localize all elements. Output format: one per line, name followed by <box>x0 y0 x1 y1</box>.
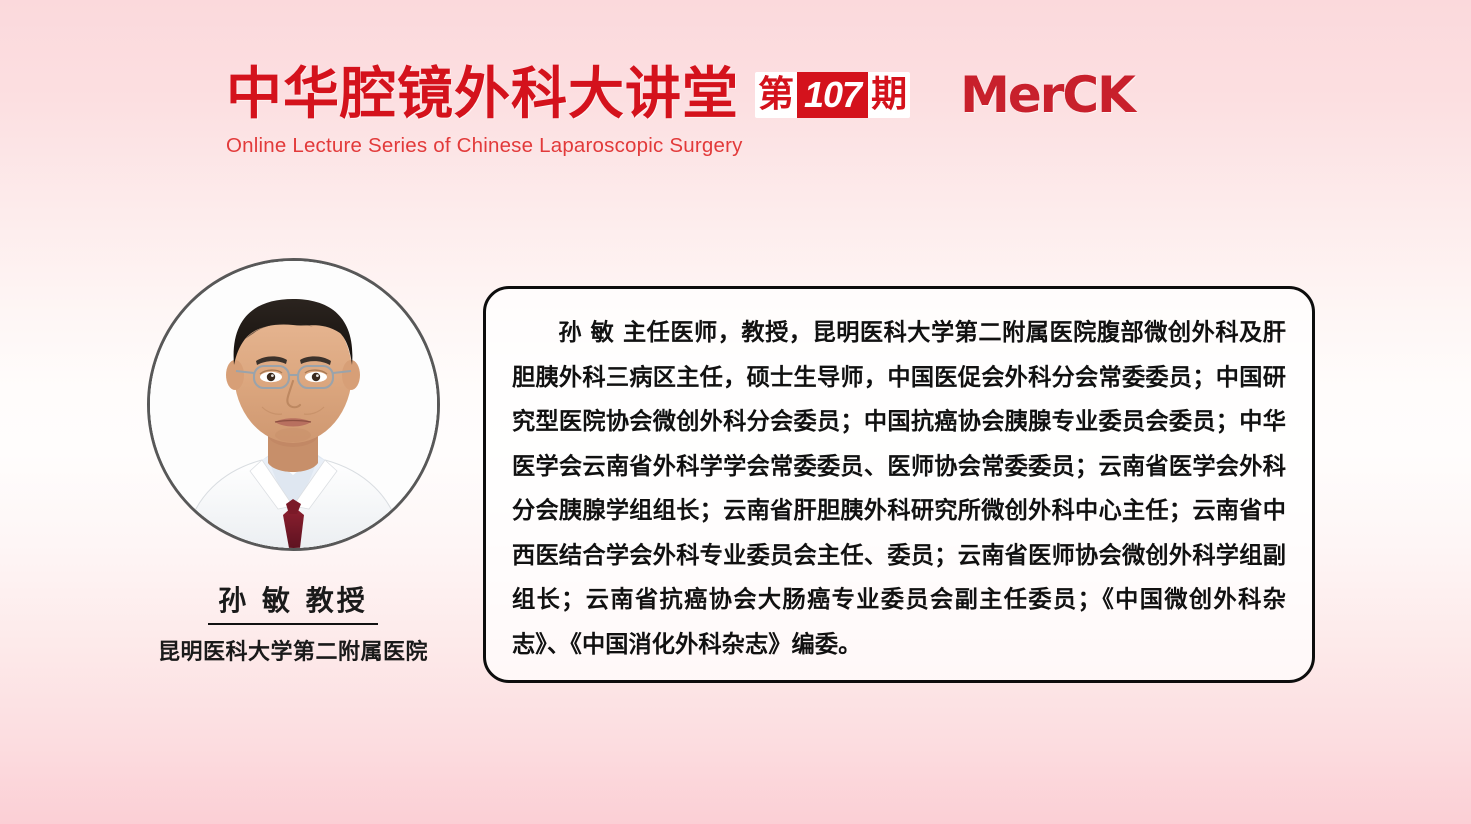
header: 中华腔镜外科大讲堂 第 107 期 MerCK Online Lecture S… <box>226 62 1236 172</box>
speaker-name-wrap: 孙 敏 教授 <box>118 579 468 625</box>
slide-canvas: 中华腔镜外科大讲堂 第 107 期 MerCK Online Lecture S… <box>0 0 1471 824</box>
issue-badge: 第 107 期 <box>755 72 910 118</box>
lecture-series-title: 中华腔镜外科大讲堂 <box>226 67 739 123</box>
lecture-series-subtitle-en: Online Lecture Series of Chinese Laparos… <box>226 134 1236 158</box>
speaker-portrait-frame <box>147 258 440 551</box>
speaker-bio-box: 孙 敏 主任医师，教授，昆明医科大学第二附属医院腹部微创外科及肝胆胰外科三病区主… <box>483 286 1315 683</box>
issue-suffix-label: 期 <box>868 72 910 118</box>
speaker-block: 孙 敏 教授 昆明医科大学第二附属医院 <box>118 258 468 666</box>
issue-prefix-label: 第 <box>755 72 797 118</box>
speaker-portrait-photo <box>150 261 437 548</box>
issue-number-label: 107 <box>797 72 868 118</box>
title-row: 中华腔镜外科大讲堂 第 107 期 MerCK <box>226 62 1236 128</box>
speaker-name: 孙 敏 教授 <box>208 579 378 625</box>
speaker-bio-text: 孙 敏 主任医师，教授，昆明医科大学第二附属医院腹部微创外科及肝胆胰外科三病区主… <box>512 311 1286 667</box>
speaker-affiliation: 昆明医科大学第二附属医院 <box>118 634 468 666</box>
merck-logo: MerCK <box>960 70 1134 120</box>
